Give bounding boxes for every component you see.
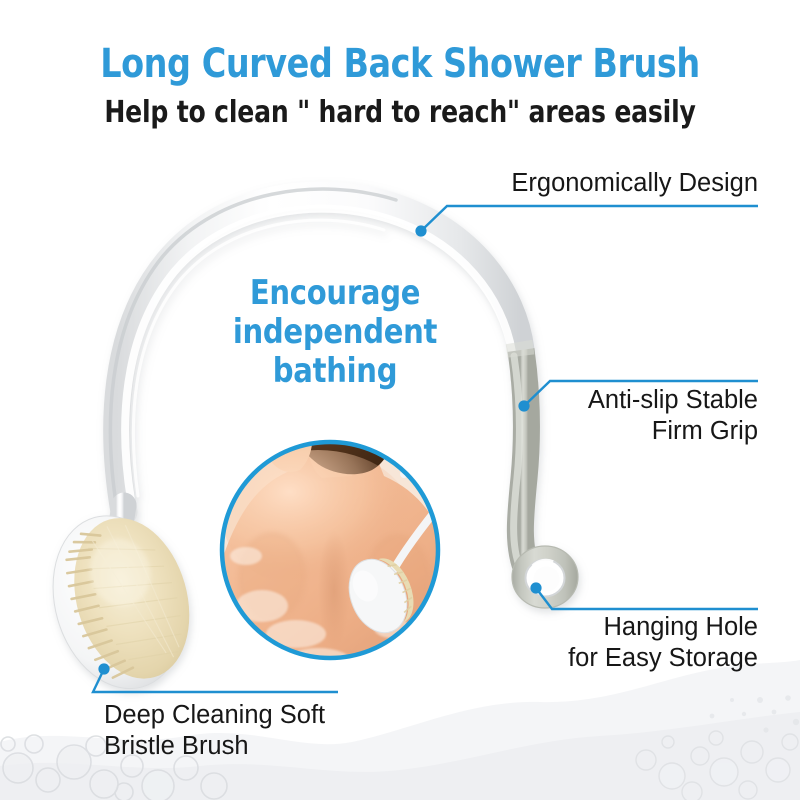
callout-bristle-brush: Deep Cleaning Soft Bristle Brush [104,700,325,762]
infographic-canvas: Long Curved Back Shower Brush Help to cl… [0,0,800,800]
callout-bristle-line-2: Bristle Brush [104,731,325,762]
slogan-line-2: independent [231,313,440,352]
callout-hanging-line-1: Hanging Hole [568,612,758,643]
callout-grip-line-2: Firm Grip [588,416,758,447]
callout-ergonomic-line-1: Ergonomically Design [511,168,758,199]
anti-slip-grip [514,342,528,572]
slogan-line-1: Encourage [231,274,440,313]
callout-anti-slip-grip: Anti-slip Stable Firm Grip [588,385,758,447]
callout-hanging-line-2: for Easy Storage [568,643,758,674]
callout-hanging-hole: Hanging Hole for Easy Storage [568,612,758,674]
brush-head [33,499,208,705]
callout-ergonomic-design: Ergonomically Design [511,168,758,199]
callout-bristle-line-1: Deep Cleaning Soft [104,700,325,731]
callout-grip-line-1: Anti-slip Stable [588,385,758,416]
inset-photo-back-brushing [222,390,454,676]
slogan-block: Encourage independent bathing [231,274,440,390]
slogan-line-3: bathing [231,352,440,391]
